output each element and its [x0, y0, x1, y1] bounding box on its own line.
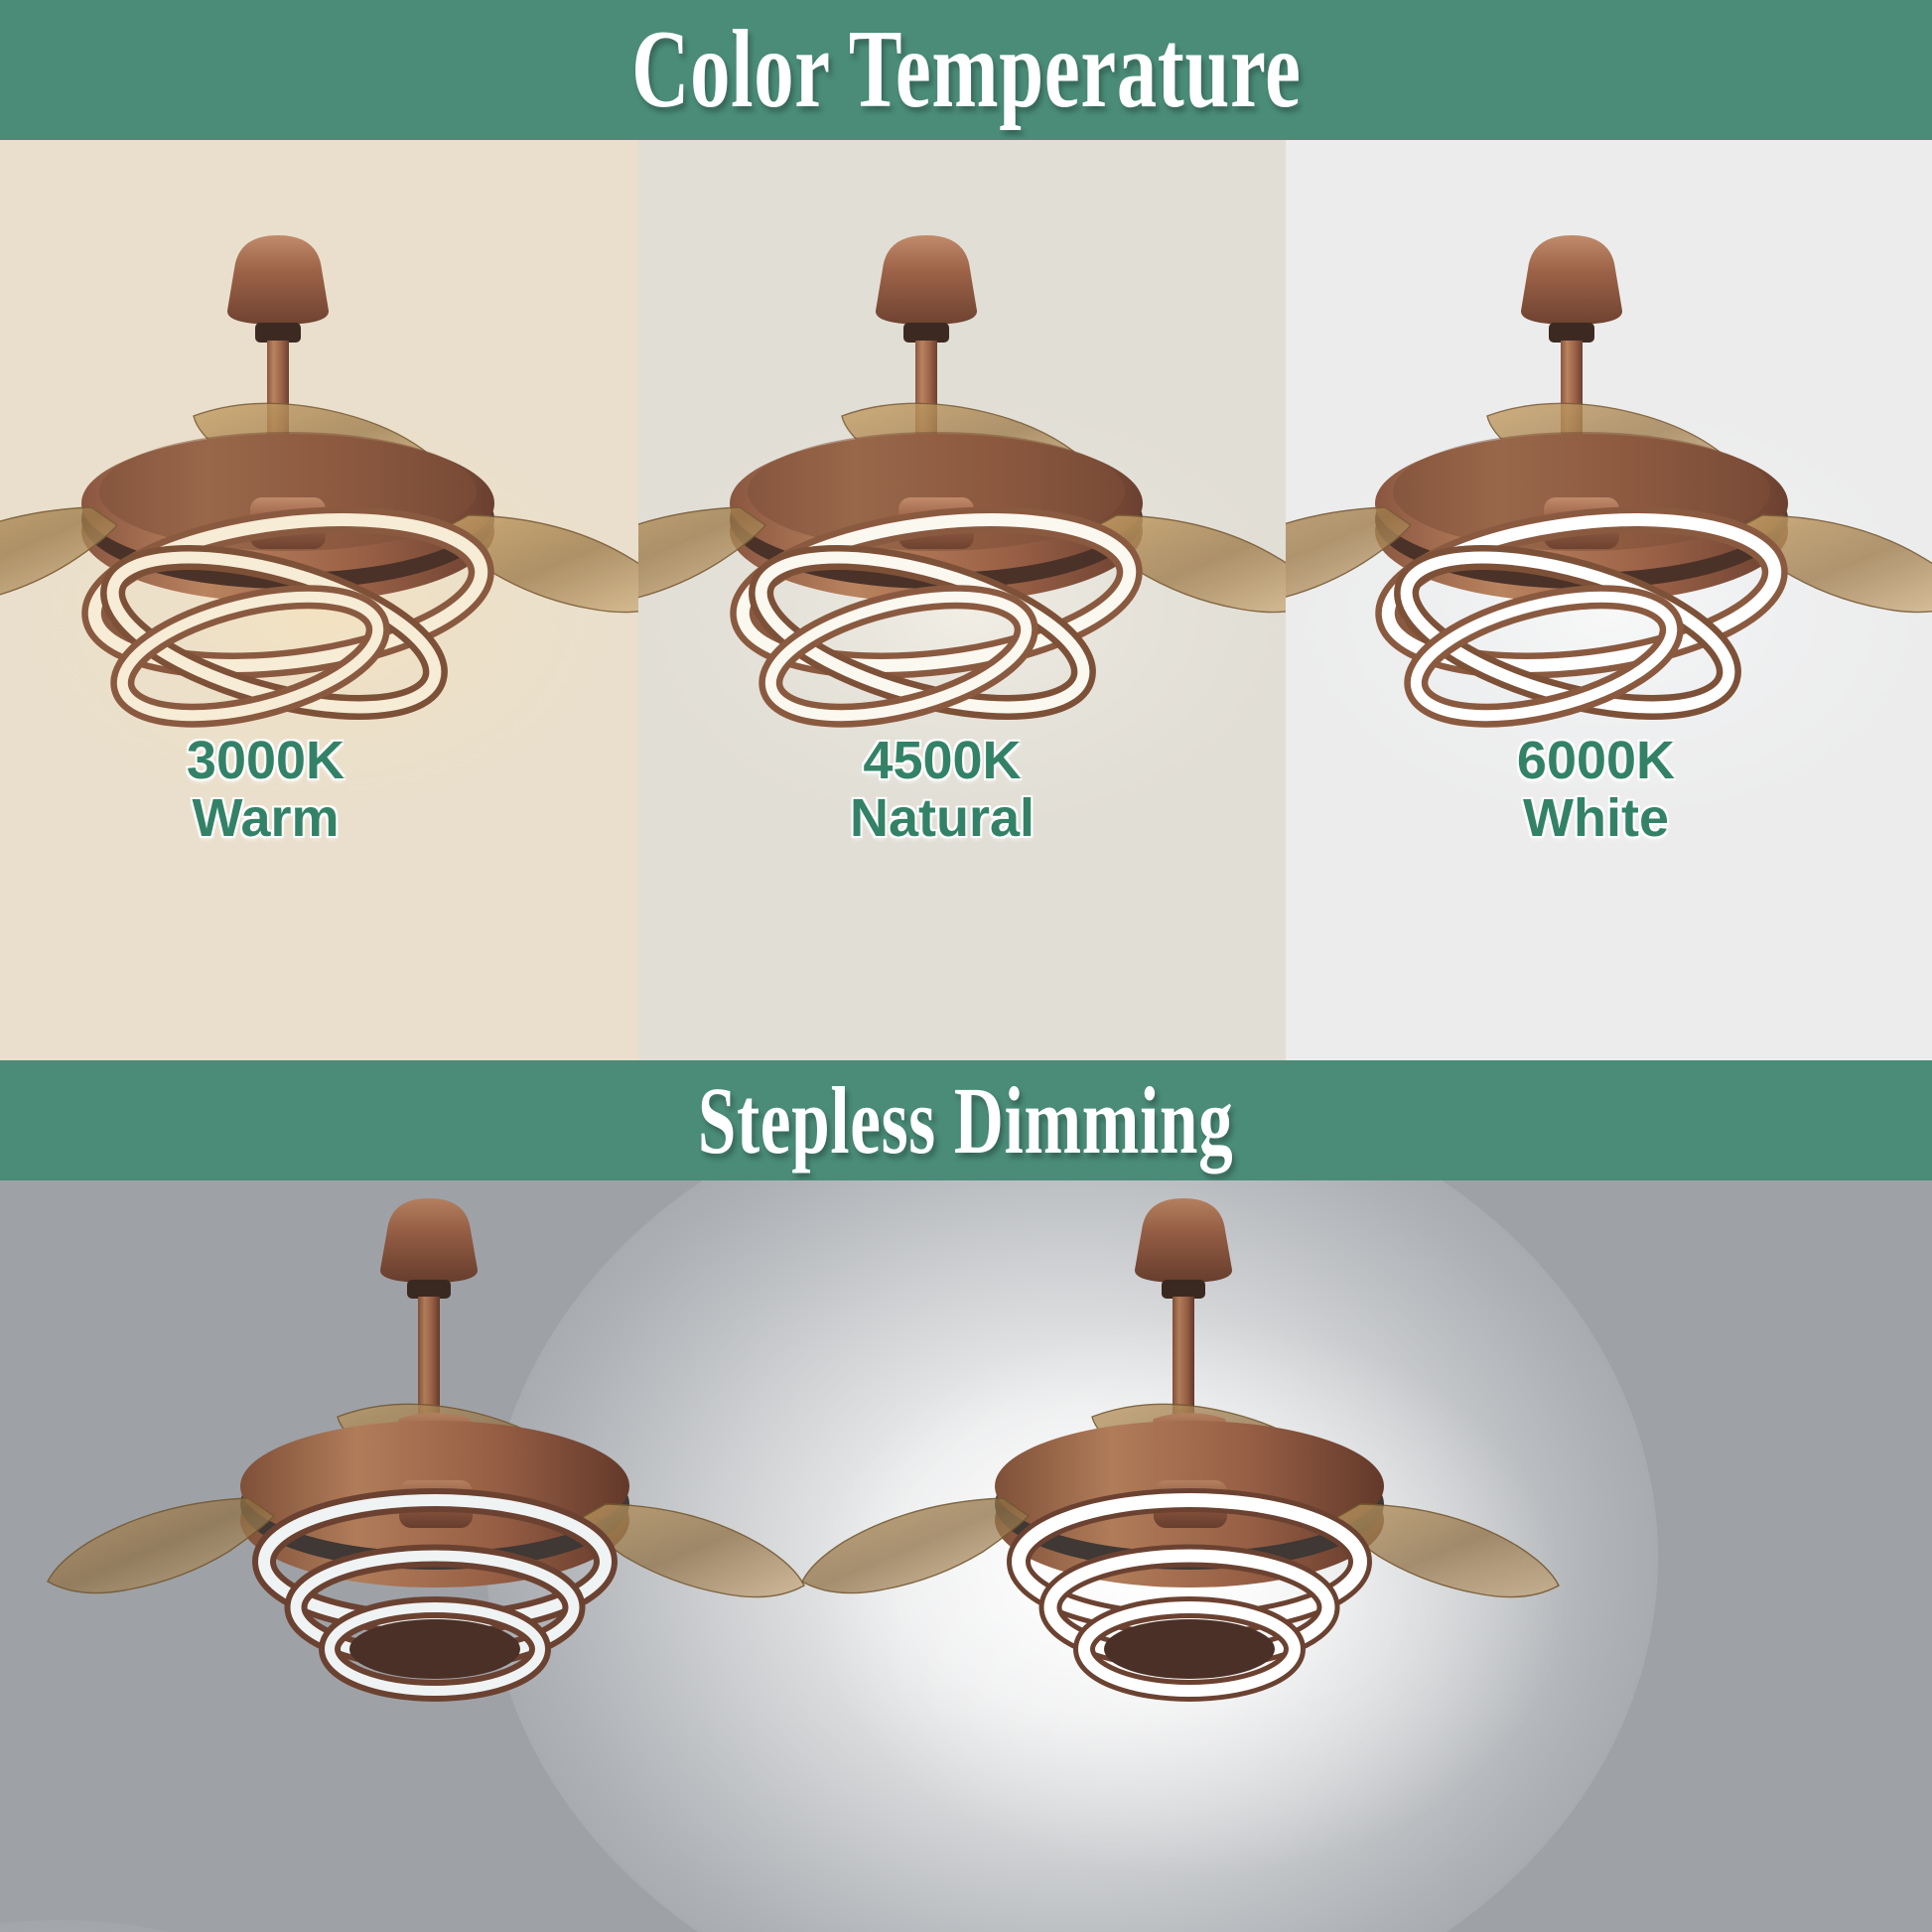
color-temperature-title: Color Temperature — [631, 6, 1301, 134]
dim-glow-halo-left — [0, 1920, 477, 1932]
stepless-dimming-banner: Stepless Dimming — [0, 1060, 1932, 1180]
ceiling-fan-dim-100 — [794, 1180, 1648, 1786]
kelvin-name-6000k: White — [1286, 789, 1906, 847]
ceiling-fan-4500k — [638, 217, 1286, 773]
color-temperature-label-6000k: 6000K White — [1286, 732, 1932, 848]
color-temperature-row: 3000K Warm — [0, 140, 1932, 1060]
color-temperature-panel-3000k: 3000K Warm — [0, 140, 638, 1060]
color-temperature-label-3000k: 3000K Warm — [0, 732, 638, 848]
ceiling-fan-3000k — [0, 217, 638, 773]
kelvin-value-6000k: 6000K — [1286, 732, 1906, 789]
color-temperature-label-4500k: 4500K Natural — [638, 732, 1286, 848]
kelvin-name-4500k: Natural — [638, 789, 1246, 847]
color-temperature-panel-4500k: 4500K Natural — [638, 140, 1286, 1060]
ceiling-fan-6000k — [1286, 217, 1932, 773]
stepless-dimming-title: Stepless Dimming — [698, 1065, 1234, 1175]
kelvin-value-4500k: 4500K — [638, 732, 1246, 789]
dim-glow-halo-right — [486, 1180, 1658, 1932]
stepless-dimming-row: 10% — [0, 1180, 1932, 1932]
ceiling-fan-dim-10 — [40, 1180, 894, 1786]
infographic-page: Color Temperature — [0, 0, 1932, 1932]
kelvin-name-3000k: Warm — [0, 789, 531, 847]
color-temperature-banner: Color Temperature — [0, 0, 1932, 140]
kelvin-value-3000k: 3000K — [0, 732, 531, 789]
color-temperature-panel-6000k: 6000K White — [1286, 140, 1932, 1060]
